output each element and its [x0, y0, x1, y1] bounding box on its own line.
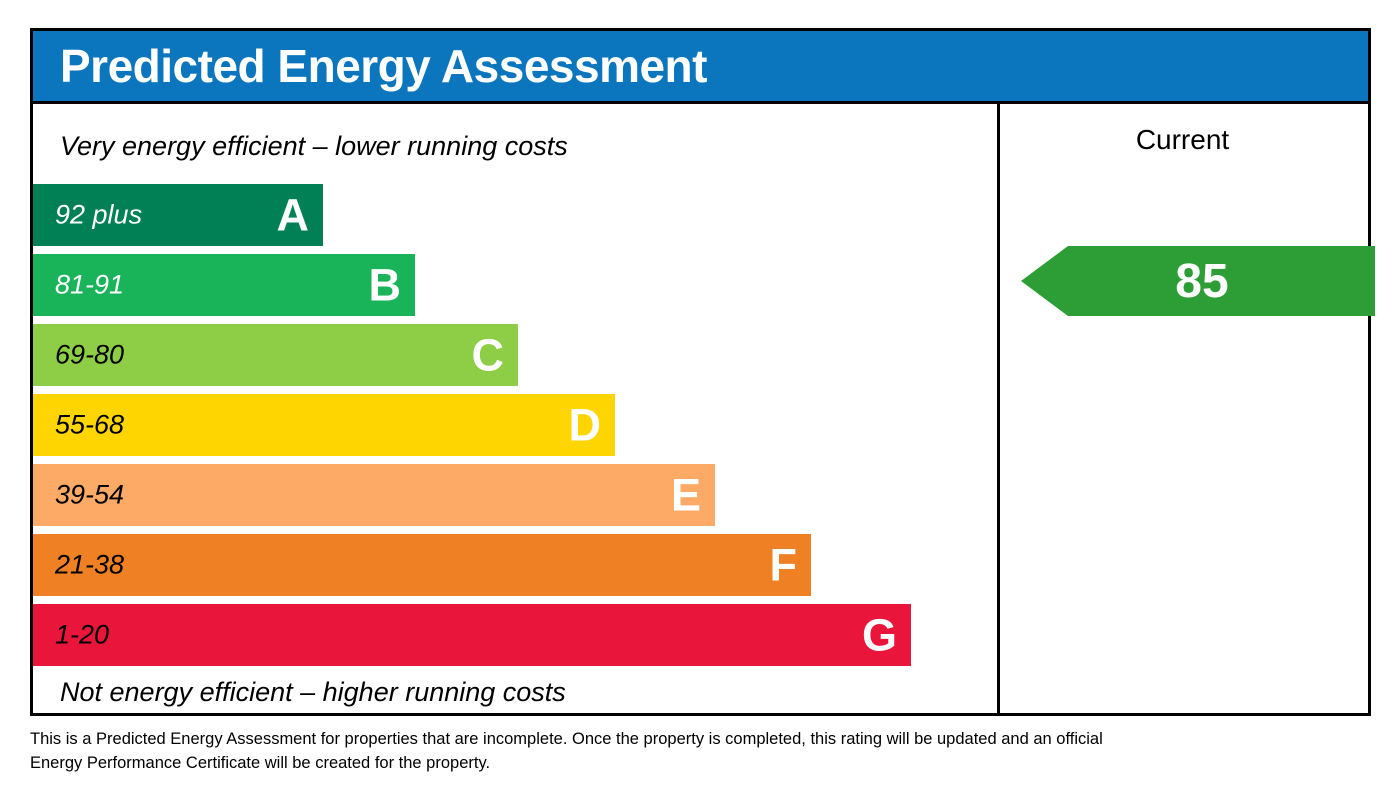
band-letter-label: E [671, 473, 701, 518]
rating-band-c: 69-80C [33, 324, 518, 386]
band-range-label: 1-20 [55, 620, 109, 651]
band-letter-label: A [277, 193, 310, 238]
page-title: Predicted Energy Assessment [60, 39, 707, 93]
rating-band-f: 21-38F [33, 534, 811, 596]
current-column-label: Current [997, 124, 1368, 156]
current-rating-value: 85 [1021, 246, 1375, 316]
footnote-text: This is a Predicted Energy Assessment fo… [30, 728, 1150, 776]
band-letter-label: B [369, 263, 402, 308]
energy-certificate-frame: Predicted Energy Assessment Very energy … [30, 28, 1371, 716]
column-divider [997, 104, 1000, 713]
band-range-label: 39-54 [55, 480, 124, 511]
rating-band-d: 55-68D [33, 394, 615, 456]
band-letter-label: D [569, 403, 602, 448]
band-letter-label: F [770, 543, 798, 588]
band-range-label: 55-68 [55, 410, 124, 441]
caption-very-efficient: Very energy efficient – lower running co… [60, 131, 568, 162]
band-range-label: 81-91 [55, 270, 124, 301]
rating-band-a: 92 plusA [33, 184, 323, 246]
band-letter-label: G [862, 613, 897, 658]
band-range-label: 69-80 [55, 340, 124, 371]
rating-band-e: 39-54E [33, 464, 715, 526]
band-range-label: 92 plus [55, 200, 142, 231]
chart-body: Very energy efficient – lower running co… [33, 104, 1368, 713]
title-bar: Predicted Energy Assessment [33, 31, 1368, 104]
band-range-label: 21-38 [55, 550, 124, 581]
band-letter-label: C [472, 333, 505, 378]
rating-band-b: 81-91B [33, 254, 415, 316]
rating-band-g: 1-20G [33, 604, 911, 666]
caption-not-efficient: Not energy efficient – higher running co… [60, 677, 566, 708]
